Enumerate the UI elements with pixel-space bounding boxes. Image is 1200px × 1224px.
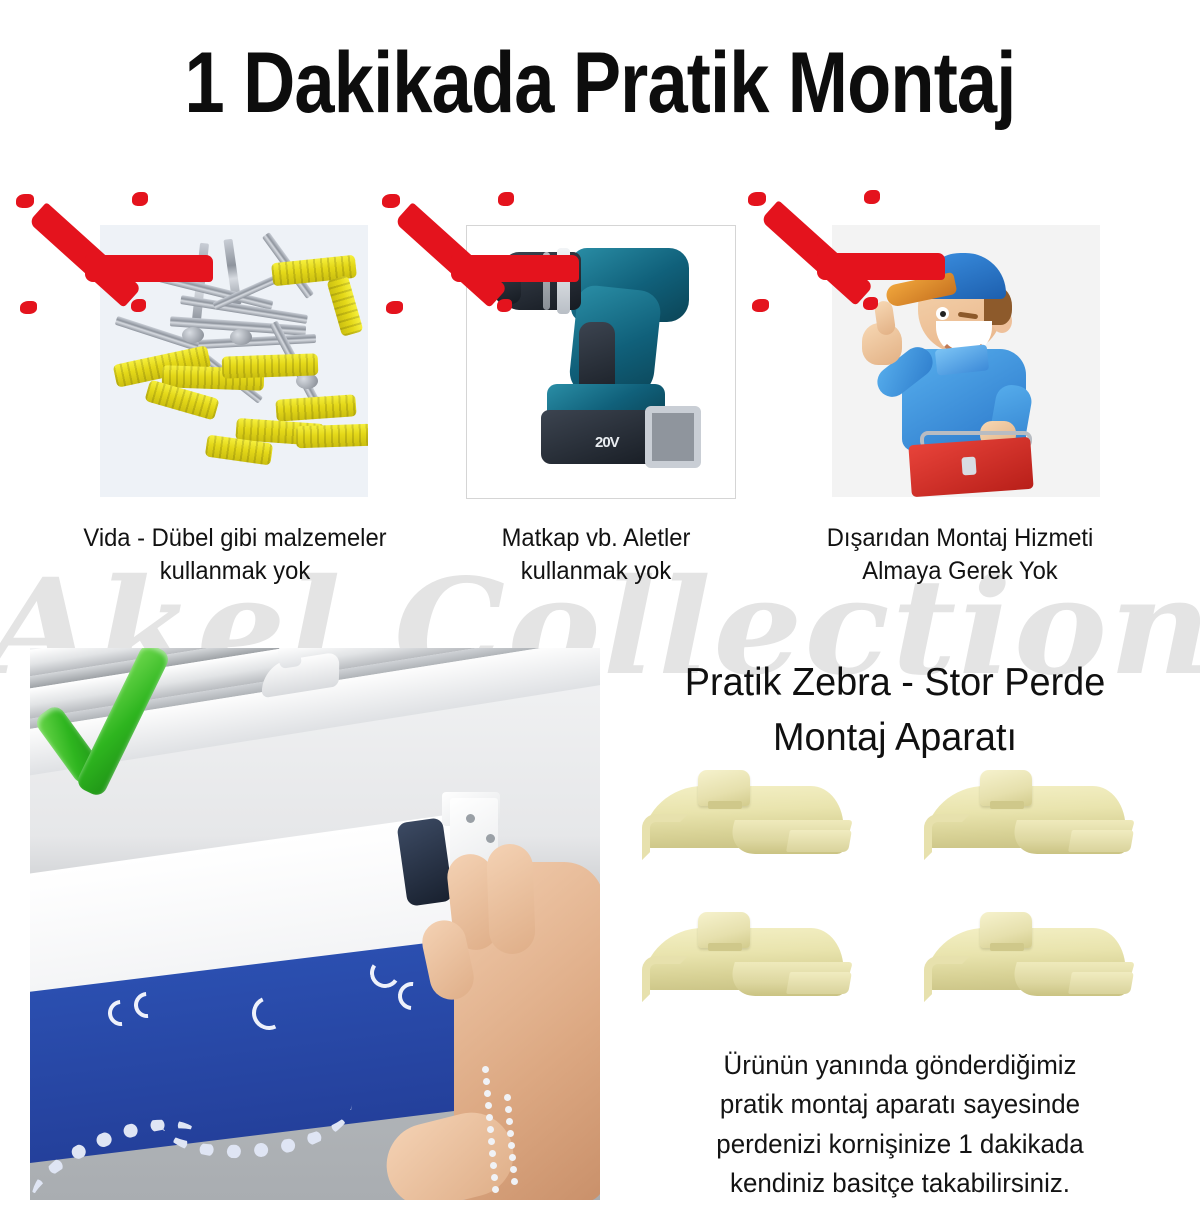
infographic-page: Akel Collection 1 Dakikada Pratik Montaj — [0, 0, 1200, 1224]
mounting-clips-grid — [620, 758, 1180, 1038]
page-title: 1 Dakikada Pratik Montaj — [96, 34, 1104, 133]
caption-installer-line1: Dışarıdan Montaj Hizmeti — [770, 522, 1150, 555]
description-line3: perdenizi kornişinize 1 dakikada — [650, 1125, 1149, 1164]
description-line1: Ürünün yanında gönderdiğimiz — [650, 1046, 1149, 1085]
caption-screws-line2: kullanmak yok — [40, 555, 430, 588]
caption-drill-line2: kullanmak yok — [455, 555, 736, 588]
cream-plastic-mounting-clip — [920, 910, 1135, 1018]
caption-screws-line1: Vida - Dübel gibi malzemeler — [40, 522, 430, 555]
forbidden-items-row: 20V — [0, 200, 1200, 510]
description-line4: kendiniz basitçe takabilirsiniz. — [650, 1164, 1149, 1203]
description-line2: pratik montaj aparatı sayesinde — [650, 1085, 1149, 1124]
red-x-icon — [386, 190, 516, 320]
product-heading-line1: Pratik Zebra - Stor Perde — [619, 655, 1172, 710]
red-x-icon — [752, 188, 882, 318]
product-description: Ürünün yanında gönderdiğimiz pratik mont… — [650, 1046, 1149, 1204]
bracket-hole — [466, 814, 475, 823]
caption-drill-line1: Matkap vb. Aletler — [455, 522, 736, 555]
cream-plastic-mounting-clip — [638, 910, 853, 1018]
caption-installer-line2: Almaya Gerek Yok — [770, 555, 1150, 588]
battery-voltage-label: 20V — [595, 434, 619, 451]
product-heading: Pratik Zebra - Stor Perde Montaj Aparatı — [619, 655, 1172, 766]
caption-screws: Vida - Dübel gibi malzemeler kullanmak y… — [40, 522, 430, 589]
red-x-icon — [20, 190, 150, 320]
caption-installer: Dışarıdan Montaj Hizmeti Almaya Gerek Yo… — [770, 522, 1150, 589]
cream-plastic-mounting-clip — [638, 768, 853, 876]
bracket-hole — [486, 834, 495, 843]
product-heading-line2: Montaj Aparatı — [619, 710, 1172, 765]
installation-photo — [30, 648, 600, 1200]
finger — [486, 843, 536, 955]
green-check-icon — [48, 648, 214, 806]
caption-drill: Matkap vb. Aletler kullanmak yok — [455, 522, 736, 589]
bead-chain — [482, 1066, 502, 1196]
cream-plastic-mounting-clip — [920, 768, 1135, 876]
